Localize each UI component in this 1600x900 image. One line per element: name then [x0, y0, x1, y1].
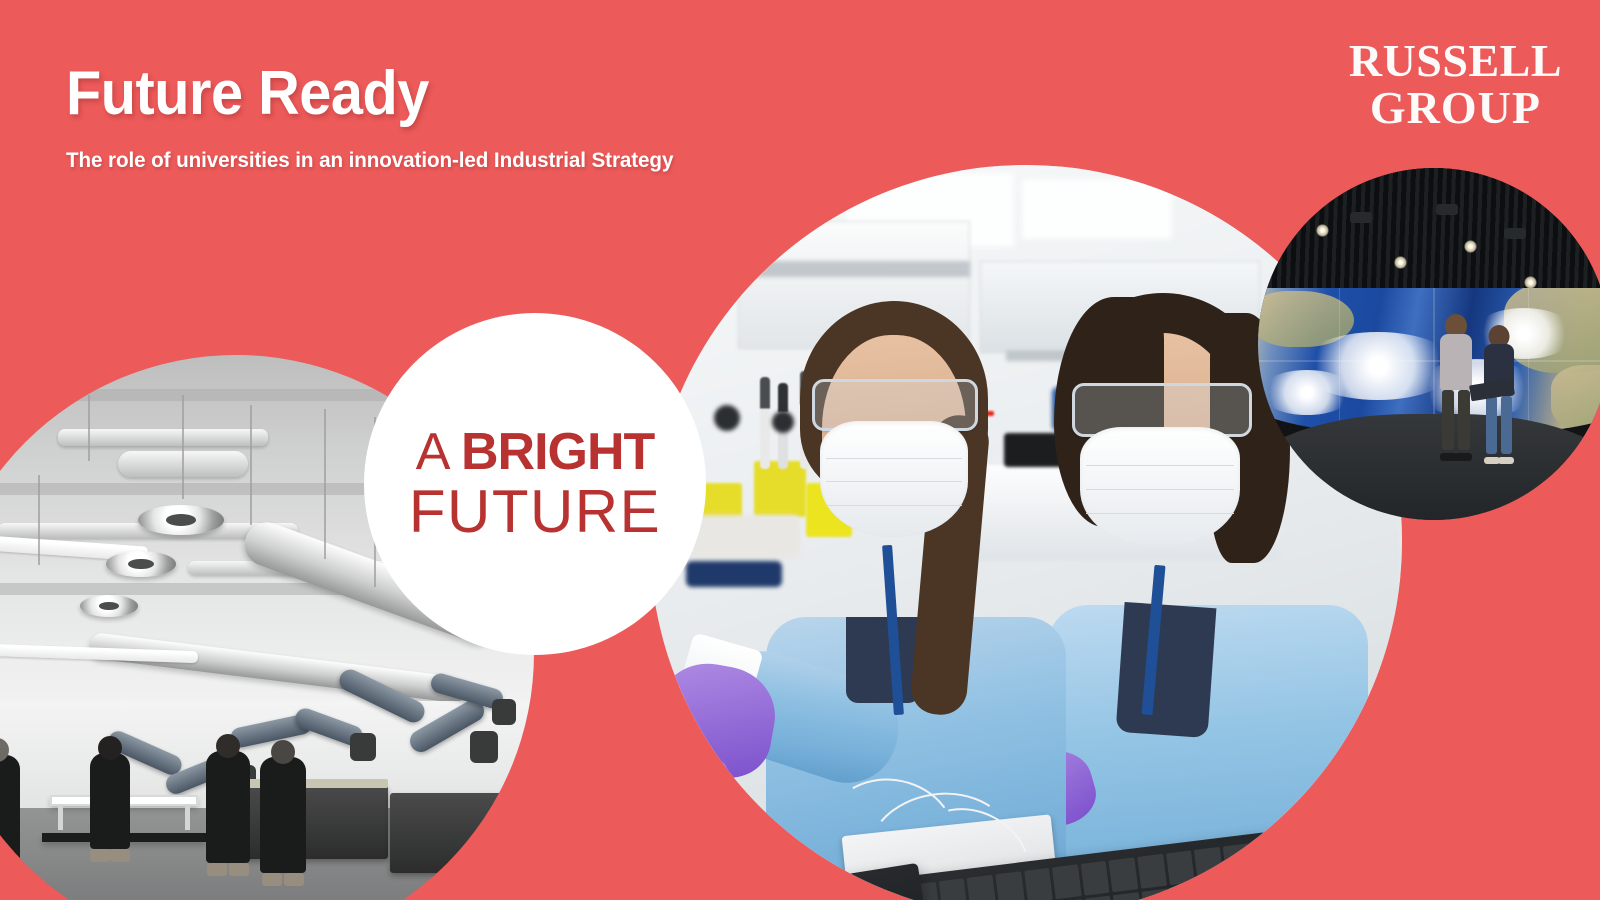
worker	[90, 753, 130, 849]
extraction-fan	[138, 505, 224, 535]
valve	[772, 411, 794, 433]
hanger-rod	[38, 475, 40, 565]
blue-tray	[686, 561, 782, 587]
russell-group-logo: RUSSELL GROUP	[1349, 38, 1562, 132]
ceiling-rig	[1350, 212, 1372, 223]
badge-word-bright: BRIGHT	[461, 423, 654, 481]
face-mask	[820, 421, 968, 537]
a-bright-future-badge: A BRIGHT FUTURE	[364, 313, 706, 655]
ceiling-rig	[1504, 228, 1526, 239]
satellite-land	[1551, 365, 1600, 433]
ceiling-spotlight	[1316, 224, 1329, 237]
extraction-fan	[106, 551, 176, 577]
logo-line-1: RUSSELL	[1349, 38, 1562, 85]
hood-edge	[738, 261, 970, 277]
ceiling-spotlight	[1464, 240, 1477, 253]
valve	[714, 405, 740, 431]
shirt	[846, 617, 920, 703]
machine-unit	[390, 793, 510, 873]
micropipette	[760, 377, 770, 469]
visualisation-scene	[1258, 168, 1600, 520]
ceiling-spotlight	[1394, 256, 1407, 269]
badge-line-1: A BRIGHT	[364, 426, 706, 479]
poster-canvas: A BRIGHT FUTURE Future Ready The role of…	[0, 0, 1600, 900]
hanger-rod	[324, 409, 326, 559]
skylight	[1022, 179, 1172, 239]
worker	[206, 751, 250, 863]
badge-text: A BRIGHT FUTURE	[364, 426, 706, 542]
person-standing-left	[1440, 334, 1472, 454]
tip-box	[754, 461, 806, 517]
badge-word-a: A	[416, 423, 461, 481]
worker	[260, 757, 306, 873]
page-subtitle: The role of universities in an innovatio…	[66, 150, 673, 172]
cloud-formation	[1260, 370, 1355, 414]
hanger-rod	[182, 395, 184, 499]
curved-video-wall	[1258, 288, 1600, 436]
hanger-rod	[250, 405, 252, 525]
worker	[0, 755, 20, 865]
screen-bezel	[1258, 360, 1600, 362]
suite-floor	[1258, 414, 1600, 520]
robot-arm	[430, 677, 534, 757]
face-mask	[1080, 427, 1240, 547]
extraction-fan	[80, 595, 138, 617]
page-title: Future Ready	[66, 63, 429, 125]
logo-line-2: GROUP	[1349, 85, 1562, 132]
shirt	[1116, 602, 1217, 738]
ceiling-rig	[1436, 204, 1458, 215]
data-visualisation-suite-photo	[1258, 168, 1600, 520]
person-standing-right	[1484, 344, 1514, 458]
glove-finger	[697, 761, 727, 828]
badge-line-2: FUTURE	[364, 481, 706, 542]
hanger-rod	[88, 395, 90, 461]
